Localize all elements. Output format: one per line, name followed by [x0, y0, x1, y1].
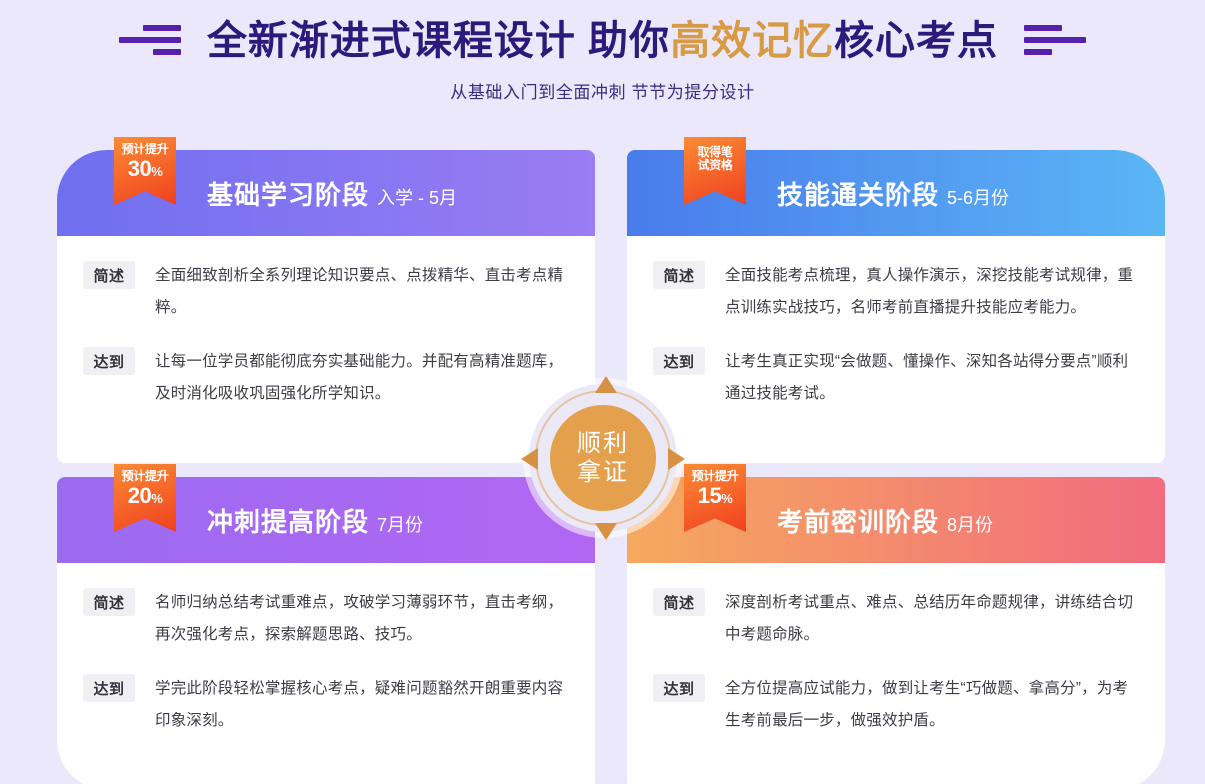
- summary-row: 简述 深度剖析考试重点、难点、总结历年命题规律，讲练结合切中考题命脉。: [653, 587, 1141, 651]
- stage-card-title: 考前密训阶段8月份: [777, 502, 993, 539]
- ribbon-badge-line1: 预计提升: [684, 470, 746, 483]
- summary-text: 深度剖析考试重点、难点、总结历年命题规律，讲练结合切中考题命脉。: [725, 587, 1141, 651]
- stage-card-body: 简述 深度剖析考试重点、难点、总结历年命题规律，讲练结合切中考题命脉。 达到 全…: [627, 563, 1165, 737]
- summary-text: 名师归纳总结考试重难点，攻破学习薄弱环节，直击考纲，再次强化考点，探索解题思路、…: [155, 587, 571, 651]
- title-row: 全新渐进式课程设计 助你高效记忆核心考点: [0, 18, 1205, 64]
- stage-card-header: 预计提升 30% 基础学习阶段入学 - 5月: [57, 150, 595, 236]
- ribbon-badge: 预计提升 15%: [684, 464, 746, 532]
- ribbon-badge: 预计提升 30%: [114, 137, 176, 205]
- stage-card-header: 取得笔 试资格 技能通关阶段5-6月份: [627, 150, 1165, 236]
- stage-card-body: 简述 名师归纳总结考试重难点，攻破学习薄弱环节，直击考纲，再次强化考点，探索解题…: [57, 563, 595, 737]
- summary-label: 简述: [653, 261, 705, 289]
- achieve-row: 达到 学完此阶段轻松掌握核心考点，疑难问题豁然开朗重要内容印象深刻。: [83, 673, 571, 737]
- center-goal-line2: 拿证: [577, 458, 629, 487]
- stage-card-title: 基础学习阶段入学 - 5月: [207, 175, 457, 212]
- summary-text: 全面细致剖析全系列理论知识要点、点拨精华、直击考点精粹。: [155, 260, 571, 324]
- page-header: 全新渐进式课程设计 助你高效记忆核心考点 从基础入门到全面冲刺 节节为提分设计: [0, 0, 1205, 103]
- page-title-highlight: 高效记忆: [670, 19, 834, 63]
- summary-row: 简述 名师归纳总结考试重难点，攻破学习薄弱环节，直击考纲，再次强化考点，探索解题…: [83, 587, 571, 651]
- summary-row: 简述 全面细致剖析全系列理论知识要点、点拨精华、直击考点精粹。: [83, 260, 571, 324]
- ribbon-badge-unit: %: [151, 491, 162, 506]
- summary-label: 简述: [83, 588, 135, 616]
- achieve-text: 让考生真正实现“会做题、懂操作、深知各站得分要点”顺利通过技能考试。: [725, 346, 1141, 410]
- stage-card[interactable]: 预计提升 20% 冲刺提高阶段7月份 简述 名师归纳总结考试重难点，攻破学习薄弱…: [57, 477, 595, 784]
- ribbon-badge-unit: %: [721, 491, 732, 506]
- center-goal-line1: 顺利: [577, 429, 629, 458]
- summary-label: 简述: [83, 261, 135, 289]
- ribbon-badge-value: 30%: [114, 157, 176, 180]
- achieve-label: 达到: [653, 347, 705, 375]
- stage-card-body: 简述 全面技能考点梳理，真人操作演示，深挖技能考试规律，重点训练实战技巧，名师考…: [627, 236, 1165, 410]
- ribbon-badge-unit: %: [151, 164, 162, 179]
- stage-title-text: 技能通关阶段: [777, 180, 939, 210]
- stage-title-text: 冲刺提高阶段: [207, 507, 369, 537]
- page-title-part1: 全新渐进式课程设计 助你: [207, 19, 670, 63]
- ribbon-badge-line2: 试资格: [684, 159, 746, 172]
- achieve-label: 达到: [653, 674, 705, 702]
- stage-card-body: 简述 全面细致剖析全系列理论知识要点、点拨精华、直击考点精粹。 达到 让每一位学…: [57, 236, 595, 410]
- achieve-label: 达到: [83, 347, 135, 375]
- ribbon-badge: 取得笔 试资格: [684, 137, 746, 205]
- ribbon-badge: 预计提升 20%: [114, 464, 176, 532]
- achieve-text: 全方位提高应试能力，做到让考生“巧做题、拿高分”，为考生考前最后一步，做强效护盾…: [725, 673, 1141, 737]
- stage-title-text: 考前密训阶段: [777, 507, 939, 537]
- center-goal-text: 顺利 拿证: [550, 405, 656, 511]
- decoration-left-icon: [115, 21, 181, 61]
- page-title-part2: 核心考点: [834, 19, 998, 63]
- stage-period-text: 7月份: [377, 515, 423, 535]
- stage-period-text: 入学 - 5月: [377, 188, 457, 208]
- stage-card[interactable]: 取得笔 试资格 技能通关阶段5-6月份 简述 全面技能考点梳理，真人操作演示，深…: [627, 150, 1165, 463]
- stage-card[interactable]: 预计提升 15% 考前密训阶段8月份 简述 深度剖析考试重点、难点、总结历年命题…: [627, 477, 1165, 784]
- achieve-text: 让每一位学员都能彻底夯实基础能力。并配有高精准题库，及时消化吸收巩固强化所学知识…: [155, 346, 571, 410]
- ribbon-badge-line1: 预计提升: [114, 470, 176, 483]
- arrow-up-icon: [595, 376, 617, 393]
- page-subtitle: 从基础入门到全面冲刺 节节为提分设计: [0, 78, 1205, 103]
- stage-card[interactable]: 预计提升 30% 基础学习阶段入学 - 5月 简述 全面细致剖析全系列理论知识要…: [57, 150, 595, 463]
- decoration-right-icon: [1024, 21, 1090, 61]
- summary-text: 全面技能考点梳理，真人操作演示，深挖技能考试规律，重点训练实战技巧，名师考前直播…: [725, 260, 1141, 324]
- achieve-label: 达到: [83, 674, 135, 702]
- achieve-row: 达到 让考生真正实现“会做题、懂操作、深知各站得分要点”顺利通过技能考试。: [653, 346, 1141, 410]
- arrow-right-icon: [668, 448, 685, 470]
- stage-title-text: 基础学习阶段: [207, 180, 369, 210]
- achieve-row: 达到 全方位提高应试能力，做到让考生“巧做题、拿高分”，为考生考前最后一步，做强…: [653, 673, 1141, 737]
- arrow-left-icon: [521, 448, 538, 470]
- ribbon-badge-line1: 预计提升: [114, 143, 176, 156]
- stage-period-text: 8月份: [947, 515, 993, 535]
- summary-label: 简述: [653, 588, 705, 616]
- ribbon-badge-line1: 取得笔: [684, 146, 746, 159]
- stage-card-header: 预计提升 15% 考前密训阶段8月份: [627, 477, 1165, 563]
- stage-period-text: 5-6月份: [947, 188, 1009, 208]
- summary-row: 简述 全面技能考点梳理，真人操作演示，深挖技能考试规律，重点训练实战技巧，名师考…: [653, 260, 1141, 324]
- ribbon-badge-value: 15%: [684, 484, 746, 507]
- center-goal-badge: 顺利 拿证: [519, 374, 687, 542]
- stage-card-title: 冲刺提高阶段7月份: [207, 502, 423, 539]
- stage-card-title: 技能通关阶段5-6月份: [777, 175, 1009, 212]
- stage-card-header: 预计提升 20% 冲刺提高阶段7月份: [57, 477, 595, 563]
- page-title: 全新渐进式课程设计 助你高效记忆核心考点: [207, 18, 998, 64]
- ribbon-badge-value: 20%: [114, 484, 176, 507]
- arrow-down-icon: [595, 523, 617, 540]
- achieve-row: 达到 让每一位学员都能彻底夯实基础能力。并配有高精准题库，及时消化吸收巩固强化所…: [83, 346, 571, 410]
- achieve-text: 学完此阶段轻松掌握核心考点，疑难问题豁然开朗重要内容印象深刻。: [155, 673, 571, 737]
